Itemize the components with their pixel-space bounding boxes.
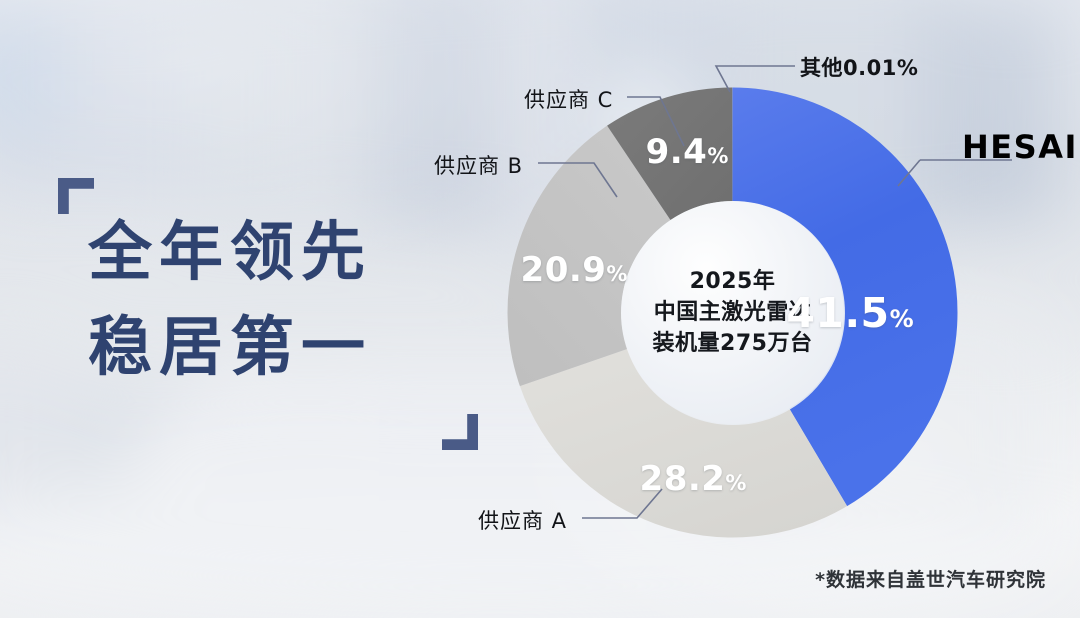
headline-line-2: 稳居第一 — [88, 301, 468, 396]
slice-value-hesai-number: 41.5 — [786, 289, 889, 337]
slice-value-supplier-b: 20.9% — [521, 250, 628, 290]
slice-value-supplier-c-percent: % — [707, 144, 728, 168]
slice-value-supplier-b-number: 20.9 — [521, 250, 607, 290]
slice-value-supplier-a-percent: % — [725, 471, 746, 495]
headline-line-1: 全年领先 — [88, 206, 468, 301]
data-source-footnote: *数据来自盖世汽车研究院 — [815, 565, 1046, 592]
slice-value-supplier-b-percent: % — [606, 262, 627, 286]
headline-block: 全年领先 稳居第一 — [58, 178, 478, 450]
callout-supplier-b: 供应商 B — [434, 150, 523, 180]
slice-value-supplier-c-number: 9.4 — [646, 132, 708, 172]
corner-bracket-bottom-right — [442, 414, 478, 450]
callout-supplier-a: 供应商 A — [478, 505, 567, 535]
slice-value-hesai: 41.5% — [786, 289, 913, 337]
slice-value-supplier-a: 28.2% — [640, 459, 747, 499]
brand-logo-hesai: HESAI — [962, 128, 1078, 166]
donut-chart: 2025年 中国主激光雷达 装机量275万台 41.5% 28.2% 20.9%… — [505, 85, 960, 540]
headline-text: 全年领先 稳居第一 — [88, 206, 468, 395]
center-line-1: 2025年 — [690, 266, 776, 297]
callout-other: 其他0.01% — [800, 52, 918, 82]
slice-value-hesai-percent: % — [890, 305, 914, 333]
slice-value-supplier-a-number: 28.2 — [640, 459, 726, 499]
infographic-slide: 全年领先 稳居第一 — [0, 0, 1080, 618]
callout-supplier-c: 供应商 C — [524, 84, 613, 114]
slice-value-supplier-c: 9.4% — [646, 132, 729, 172]
